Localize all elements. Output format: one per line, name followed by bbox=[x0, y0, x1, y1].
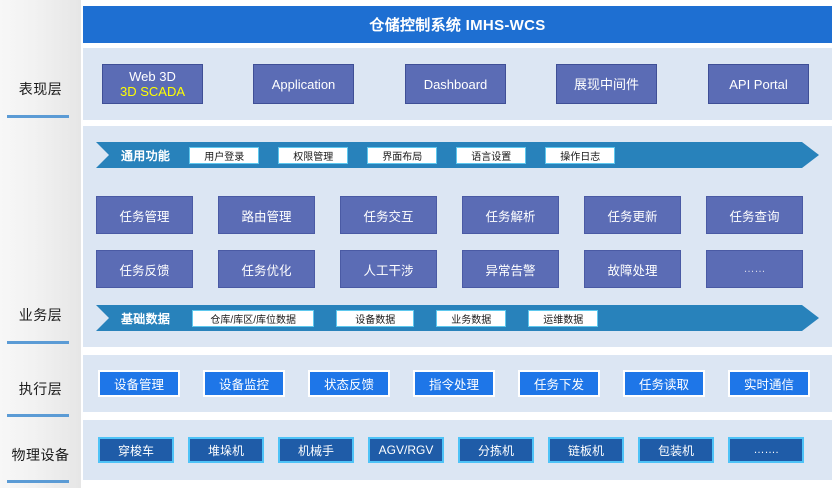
execution-box-status-feedback[interactable]: 状态反馈 bbox=[308, 370, 390, 397]
rail-label-presentation: 表现层 bbox=[0, 82, 81, 96]
business-box-route-management[interactable]: 路由管理 bbox=[218, 196, 315, 234]
basic-data-chip-device[interactable]: 设备数据 bbox=[336, 310, 414, 327]
business-box-task-update[interactable]: 任务更新 bbox=[584, 196, 681, 234]
business-box-exception-alarm[interactable]: 异常告警 bbox=[462, 250, 559, 288]
physical-box-stacker[interactable]: 堆垛机 bbox=[188, 437, 264, 463]
physical-box-agv-rgv[interactable]: AGV/RGV bbox=[368, 437, 444, 463]
rail-label-business: 业务层 bbox=[0, 308, 81, 322]
layer-label-rail: 表现层 业务层 执行层 物理设备 bbox=[0, 0, 81, 488]
presentation-row: Web 3D 3D SCADA Application Dashboard 展现… bbox=[83, 64, 832, 104]
common-functions-chip-user-login[interactable]: 用户登录 bbox=[189, 147, 259, 164]
presentation-box-api-portal-label: API Portal bbox=[729, 77, 788, 92]
business-layer-panel: 通用功能 用户登录 权限管理 界面布局 语言设置 操作日志 任务管理 路由管理 … bbox=[83, 126, 832, 347]
physical-box-sorter[interactable]: 分拣机 bbox=[458, 437, 534, 463]
common-functions-arrow: 通用功能 用户登录 权限管理 界面布局 语言设置 操作日志 bbox=[96, 142, 819, 168]
business-box-task-interaction[interactable]: 任务交互 bbox=[340, 196, 437, 234]
system-title-bar: 仓储控制系统 IMHS-WCS bbox=[83, 6, 832, 43]
business-box-manual-intervention[interactable]: 人工干涉 bbox=[340, 250, 437, 288]
business-box-fault-handling[interactable]: 故障处理 bbox=[584, 250, 681, 288]
physical-box-robot-arm[interactable]: 机械手 bbox=[278, 437, 354, 463]
common-functions-chip-operation-log[interactable]: 操作日志 bbox=[545, 147, 615, 164]
presentation-box-web3d-sub: 3D SCADA bbox=[120, 84, 185, 99]
execution-box-device-management[interactable]: 设备管理 bbox=[98, 370, 180, 397]
physical-box-shuttle[interactable]: 穿梭车 bbox=[98, 437, 174, 463]
business-row-1: 任务管理 路由管理 任务交互 任务解析 任务更新 任务查询 bbox=[83, 196, 832, 234]
business-box-task-feedback[interactable]: 任务反馈 bbox=[96, 250, 193, 288]
presentation-box-api-portal[interactable]: API Portal bbox=[708, 64, 809, 104]
business-box-task-management[interactable]: 任务管理 bbox=[96, 196, 193, 234]
rail-divider-1 bbox=[7, 115, 69, 118]
rail-divider-4 bbox=[7, 480, 69, 483]
execution-box-device-monitoring[interactable]: 设备监控 bbox=[203, 370, 285, 397]
basic-data-title: 基础数据 bbox=[121, 310, 170, 327]
physical-device-panel: 穿梭车 堆垛机 机械手 AGV/RGV 分拣机 链板机 包装机 ……. bbox=[83, 420, 832, 480]
presentation-box-dashboard[interactable]: Dashboard bbox=[405, 64, 506, 104]
execution-box-task-read[interactable]: 任务读取 bbox=[623, 370, 705, 397]
presentation-box-middleware[interactable]: 展现中间件 bbox=[556, 64, 657, 104]
common-functions-chip-permission[interactable]: 权限管理 bbox=[278, 147, 348, 164]
basic-data-chip-operations[interactable]: 运维数据 bbox=[528, 310, 598, 327]
presentation-box-middleware-label: 展现中间件 bbox=[574, 77, 639, 92]
physical-box-more[interactable]: ……. bbox=[728, 437, 804, 463]
basic-data-arrow: 基础数据 仓库/库区/库位数据 设备数据 业务数据 运维数据 bbox=[96, 305, 819, 331]
page-title: 仓储控制系统 IMHS-WCS bbox=[369, 14, 545, 35]
business-box-task-optimization[interactable]: 任务优化 bbox=[218, 250, 315, 288]
basic-data-chip-warehouse[interactable]: 仓库/库区/库位数据 bbox=[192, 310, 314, 327]
rail-label-physical: 物理设备 bbox=[0, 448, 81, 462]
physical-box-slat-conveyor[interactable]: 链板机 bbox=[548, 437, 624, 463]
business-box-task-parsing[interactable]: 任务解析 bbox=[462, 196, 559, 234]
execution-box-command-processing[interactable]: 指令处理 bbox=[413, 370, 495, 397]
business-box-more[interactable]: …… bbox=[706, 250, 803, 288]
common-functions-title: 通用功能 bbox=[121, 147, 170, 164]
presentation-box-web3d[interactable]: Web 3D 3D SCADA bbox=[102, 64, 203, 104]
physical-row: 穿梭车 堆垛机 机械手 AGV/RGV 分拣机 链板机 包装机 ……. bbox=[83, 437, 832, 463]
execution-box-realtime-comm[interactable]: 实时通信 bbox=[728, 370, 810, 397]
presentation-box-application-label: Application bbox=[272, 77, 336, 92]
rail-label-execution: 执行层 bbox=[0, 382, 81, 396]
physical-box-packaging[interactable]: 包装机 bbox=[638, 437, 714, 463]
rail-divider-2 bbox=[7, 341, 69, 344]
basic-data-chip-business[interactable]: 业务数据 bbox=[436, 310, 506, 327]
rail-divider-3 bbox=[7, 414, 69, 417]
common-functions-chip-layout[interactable]: 界面布局 bbox=[367, 147, 437, 164]
presentation-box-dashboard-label: Dashboard bbox=[424, 77, 488, 92]
execution-box-task-dispatch[interactable]: 任务下发 bbox=[518, 370, 600, 397]
presentation-box-web3d-main: Web 3D bbox=[129, 69, 176, 84]
business-box-task-query[interactable]: 任务查询 bbox=[706, 196, 803, 234]
execution-row: 设备管理 设备监控 状态反馈 指令处理 任务下发 任务读取 实时通信 bbox=[83, 370, 832, 397]
architecture-diagram: 表现层 业务层 执行层 物理设备 仓储控制系统 IMHS-WCS Web 3D … bbox=[0, 0, 832, 488]
common-functions-chip-language[interactable]: 语言设置 bbox=[456, 147, 526, 164]
presentation-box-application[interactable]: Application bbox=[253, 64, 354, 104]
execution-layer-panel: 设备管理 设备监控 状态反馈 指令处理 任务下发 任务读取 实时通信 bbox=[83, 355, 832, 412]
business-row-2: 任务反馈 任务优化 人工干涉 异常告警 故障处理 …… bbox=[83, 250, 832, 288]
presentation-layer-panel: Web 3D 3D SCADA Application Dashboard 展现… bbox=[83, 48, 832, 120]
